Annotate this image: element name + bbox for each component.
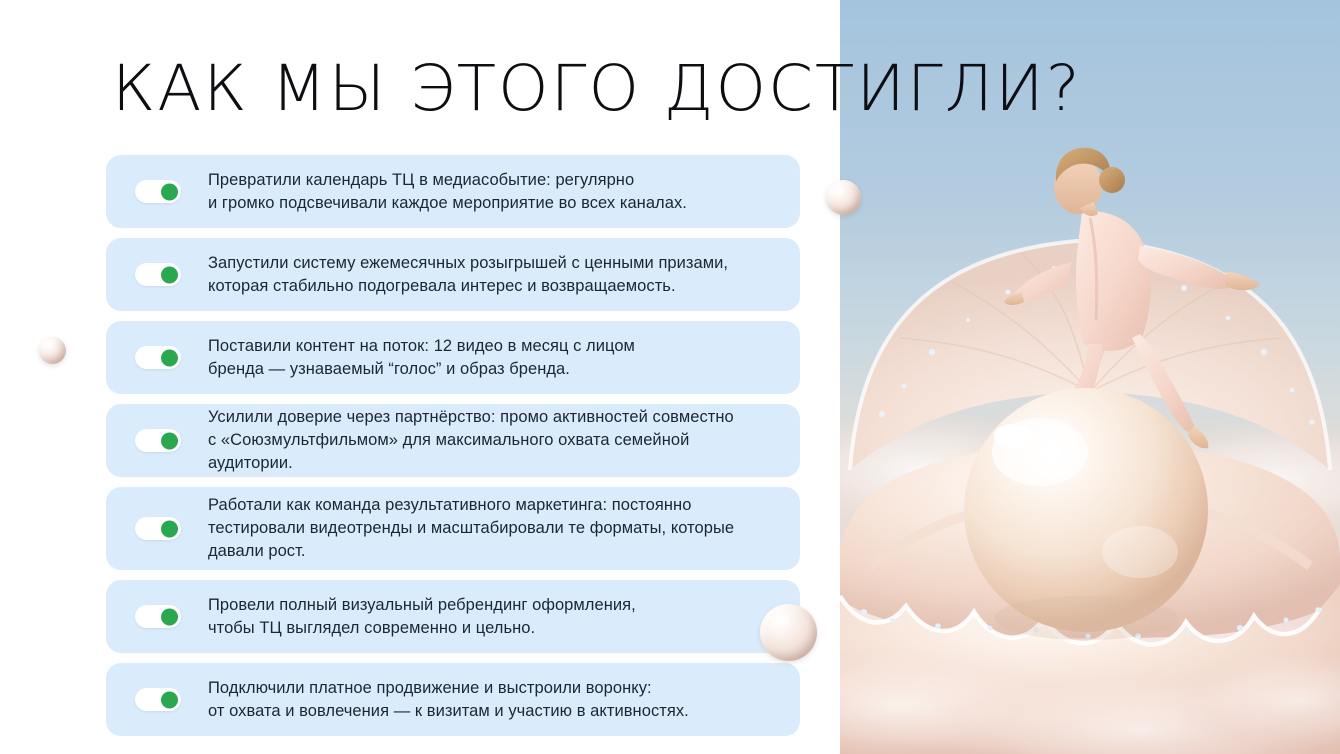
pearl-decor-icon <box>39 337 66 364</box>
pearl-decor-icon <box>760 604 817 661</box>
list-item-text: Работали как команда результативного мар… <box>208 494 800 563</box>
list-item-text: Провели полный визуальный ребрендинг офо… <box>208 594 800 640</box>
toggle-switch[interactable] <box>135 263 181 286</box>
list-item-text: Подключили платное продвижение и выстрои… <box>208 677 800 723</box>
pearl-decor-icon <box>826 180 861 215</box>
list-item[interactable]: Подключили платное продвижение и выстрои… <box>106 663 800 736</box>
list-item[interactable]: Поставили контент на поток: 12 видео в м… <box>106 321 800 394</box>
list-item-text: Превратили календарь ТЦ в медиасобытие: … <box>208 169 800 215</box>
list-item-text: Поставили контент на поток: 12 видео в м… <box>208 335 800 381</box>
toggle-knob-icon <box>161 432 178 449</box>
toggle-knob-icon <box>161 266 178 283</box>
toggle-switch[interactable] <box>135 180 181 203</box>
list-item[interactable]: Работали как команда результативного мар… <box>106 487 800 570</box>
toggle-knob-icon <box>161 520 178 537</box>
toggle-knob-icon <box>161 691 178 708</box>
list-item[interactable]: Запустили систему ежемесячных розыгрышей… <box>106 238 800 311</box>
toggle-switch[interactable] <box>135 605 181 628</box>
toggle-switch[interactable] <box>135 429 181 452</box>
list-item-text: Усилили доверие через партнёрство: промо… <box>208 406 800 475</box>
list-item[interactable]: Превратили календарь ТЦ в медиасобытие: … <box>106 155 800 228</box>
content-pane: КАК МЫ ЭТОГО ДОСТИГЛИ? Превратили календ… <box>0 0 840 754</box>
toggle-switch[interactable] <box>135 688 181 711</box>
page-title: КАК МЫ ЭТОГО ДОСТИГЛИ? <box>112 52 1082 125</box>
toggle-knob-icon <box>161 608 178 625</box>
slide-root: КАК МЫ ЭТОГО ДОСТИГЛИ? Превратили календ… <box>0 0 1340 754</box>
toggle-switch[interactable] <box>135 517 181 540</box>
toggle-knob-icon <box>161 183 178 200</box>
list-item[interactable]: Усилили доверие через партнёрство: промо… <box>106 404 800 477</box>
toggle-switch[interactable] <box>135 346 181 369</box>
list-item-text: Запустили систему ежемесячных розыгрышей… <box>208 252 800 298</box>
toggle-knob-icon <box>161 349 178 366</box>
achievements-list: Превратили календарь ТЦ в медиасобытие: … <box>106 155 800 746</box>
list-item[interactable]: Провели полный визуальный ребрендинг офо… <box>106 580 800 653</box>
